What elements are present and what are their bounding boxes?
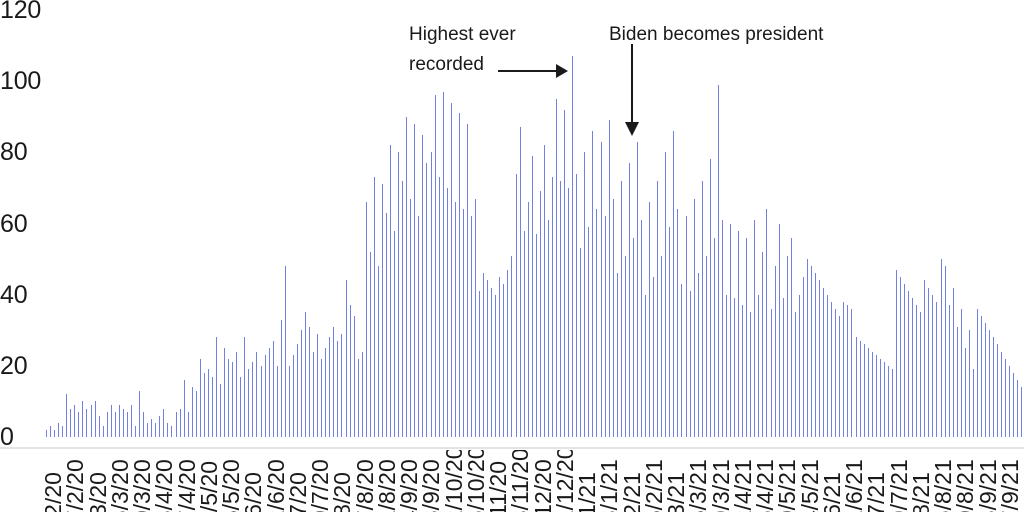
x-axis-tick-label: 5/7/21 [865, 472, 888, 512]
x-axis-tick-label: 17/2/20 [64, 459, 87, 512]
y-axis-tick-label: 100 [0, 69, 42, 94]
x-axis-tick-label: 3/8/20 [331, 472, 354, 512]
x-axis-tick-label: 27/9/21 [999, 459, 1022, 512]
y-axis-tick-label: 20 [0, 354, 42, 379]
annotation-highest-line1: Highest ever [409, 20, 516, 50]
y-axis-tick-label: 40 [0, 283, 42, 308]
x-axis-tick-label: 23/11/20 [509, 450, 532, 512]
y-axis-tick-label: 60 [0, 212, 42, 237]
y-axis-tick-label: 80 [0, 140, 42, 165]
x-axis-line [0, 447, 1024, 449]
arrow-down-icon [618, 44, 646, 136]
y-axis-tick-label: 120 [0, 0, 42, 23]
x-axis-tick-label: 10/5/21 [776, 459, 799, 512]
x-axis: 3/2/2017/2/202/3/2016/3/2030/3/2013/4/20… [45, 450, 1024, 512]
x-axis-tick-label: 30/8/21 [954, 459, 977, 512]
arrow-right-icon [498, 58, 568, 84]
x-axis-tick-label: 8/6/20 [242, 472, 265, 512]
x-axis-tick-label: 18/1/21 [598, 459, 621, 512]
x-axis-tick-label: 15/3/21 [687, 459, 710, 512]
x-axis-tick-label: 28/9/20 [420, 459, 443, 512]
bar-chart: 020406080100120 3/2/2017/2/202/3/2016/3/… [0, 0, 1024, 512]
x-axis-tick-label: 13/4/20 [153, 459, 176, 512]
